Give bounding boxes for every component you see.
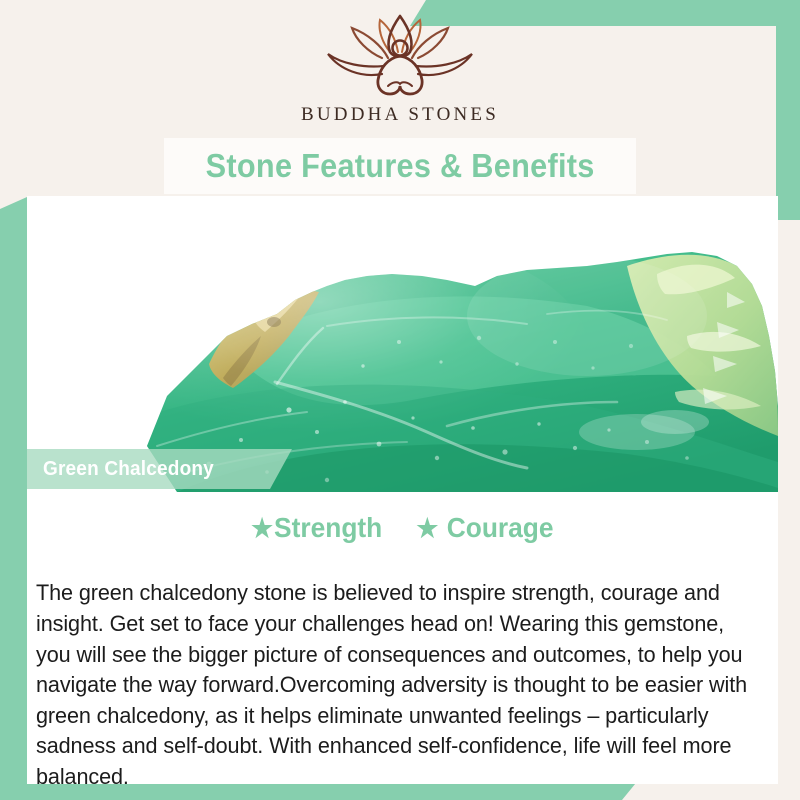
brand-name: BUDDHA STONES — [301, 104, 499, 126]
benefit-courage: ★ Courage — [417, 512, 554, 544]
poster-root: BUDDHA STONES Stone Features & Benefits — [0, 0, 800, 800]
brand-logo: BUDDHA STONES — [0, 14, 800, 126]
benefits-row: ★ Strength ★ Courage — [27, 512, 778, 544]
title-banner: Stone Features & Benefits — [164, 138, 636, 194]
star-icon: ★ — [251, 515, 273, 541]
benefit-label: Courage — [447, 512, 554, 544]
benefit-label: Strength — [274, 512, 382, 544]
benefit-strength: ★ Strength — [251, 512, 382, 544]
lotus-meditation-icon — [320, 14, 480, 102]
star-icon: ★ — [417, 515, 439, 541]
description-text: The green chalcedony stone is believed t… — [36, 578, 750, 792]
stone-label-band: Green Chalcedony — [27, 449, 292, 489]
stone-label: Green Chalcedony — [43, 458, 214, 481]
page-title: Stone Features & Benefits — [205, 147, 594, 185]
stone-photo — [27, 196, 778, 492]
stone-photo-graphic — [27, 196, 778, 492]
accent-band-left — [0, 197, 27, 800]
